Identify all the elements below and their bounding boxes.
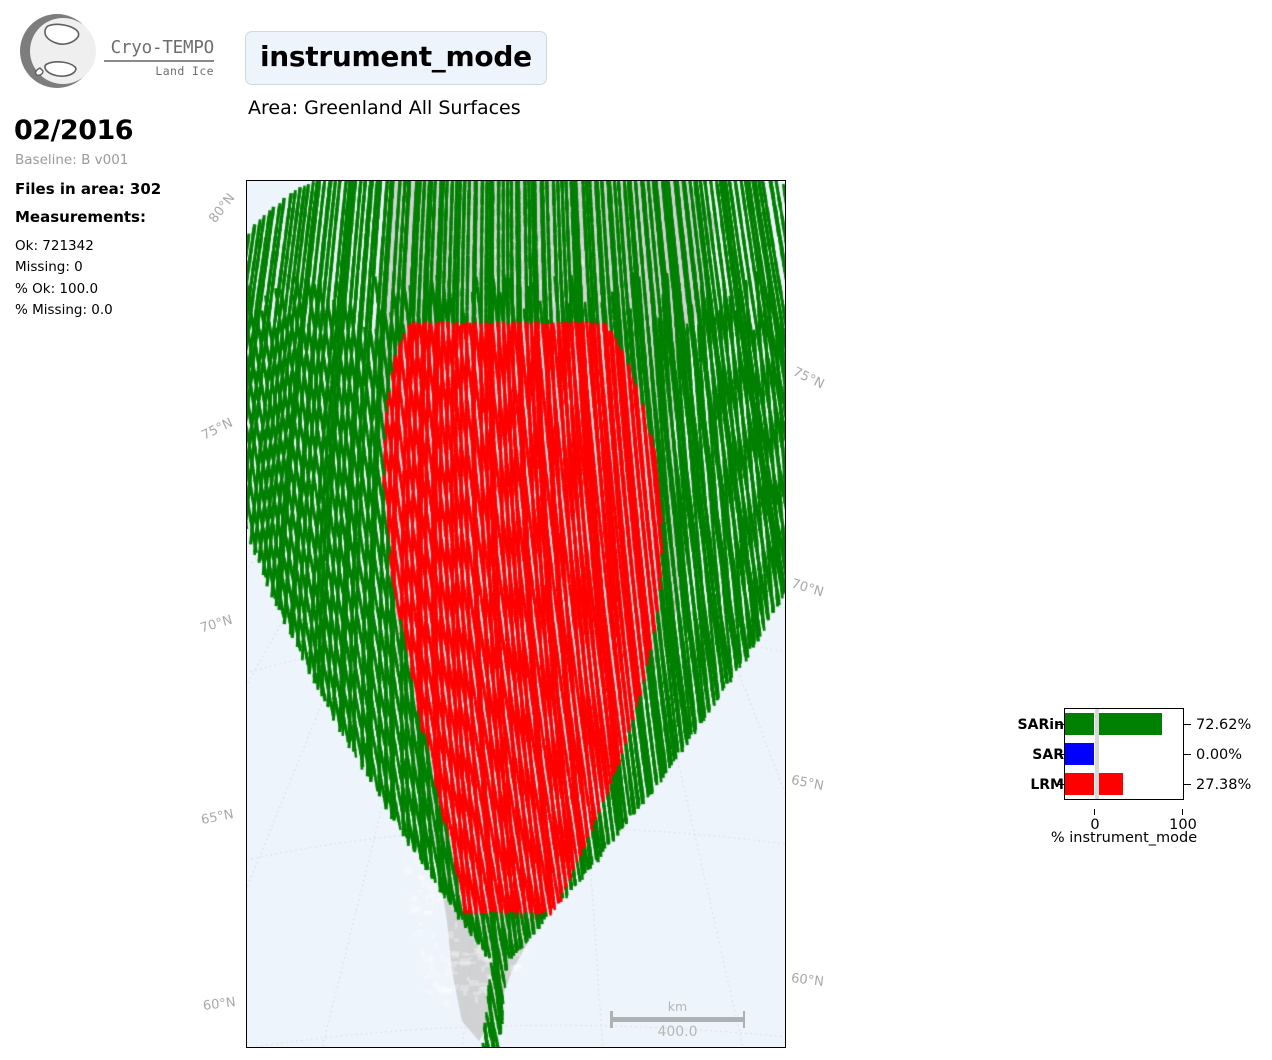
scalebar-unit: km bbox=[610, 1000, 745, 1014]
legend-xtick-100 bbox=[1182, 809, 1183, 815]
legend-value-lrm: 27.38% bbox=[1196, 778, 1251, 792]
logo-subtitle: Land Ice bbox=[102, 64, 214, 78]
measurements-heading: Measurements: bbox=[15, 208, 146, 226]
variable-title-chip: instrument_mode bbox=[245, 31, 547, 85]
files-in-area-label: Files in area: 302 bbox=[15, 180, 161, 198]
stat-ok: Ok: 721342 bbox=[15, 236, 113, 257]
lat-label-right-65N: 65°N bbox=[790, 773, 825, 794]
scalebar-value: 400.0 bbox=[610, 1024, 745, 1040]
lat-label-right-60N: 60°N bbox=[790, 971, 824, 990]
legend-swatch-sar bbox=[1065, 743, 1094, 765]
legend-row-sarin bbox=[1065, 713, 1183, 735]
map-plot bbox=[246, 180, 786, 1048]
stat-pct-missing: % Missing: 0.0 bbox=[15, 300, 113, 321]
stat-missing: Missing: 0 bbox=[15, 257, 113, 278]
legend-plot-area: 0 100 bbox=[1064, 708, 1184, 800]
legend-row-lrm bbox=[1065, 773, 1183, 795]
app-logo: Cryo-TEMPO Land Ice bbox=[14, 10, 214, 92]
area-label: Area: Greenland All Surfaces bbox=[248, 97, 521, 119]
legend-swatch-lrm bbox=[1065, 773, 1094, 795]
instrument-mode-legend-chart: 0 100 SARin SAR LRM 72.62% 0.00% 27.38% … bbox=[1000, 700, 1260, 845]
baseline-label: Baseline: B v001 bbox=[15, 152, 128, 168]
scalebar-rule bbox=[610, 1017, 745, 1022]
legend-ytick-sarin bbox=[1057, 724, 1064, 725]
logo-wordmark: Cryo-TEMPO Land Ice bbox=[102, 38, 214, 78]
legend-xaxis-title: % instrument_mode bbox=[1051, 830, 1197, 846]
legend-value-sar: 0.00% bbox=[1196, 748, 1242, 762]
legend-swatch-sarin bbox=[1065, 713, 1094, 735]
legend-value-sarin: 72.62% bbox=[1196, 718, 1251, 732]
logo-title: Cryo-TEMPO bbox=[102, 38, 214, 58]
sidebar: Cryo-TEMPO Land Ice 02/2016 Baseline: B … bbox=[0, 0, 235, 1060]
cryo-tempo-globe-icon bbox=[18, 12, 96, 90]
lat-label-right-70N: 70°N bbox=[790, 577, 826, 601]
logo-divider bbox=[104, 60, 214, 62]
legend-ytick-right-lrm bbox=[1184, 784, 1191, 785]
legend-ytick-lrm bbox=[1057, 784, 1064, 785]
legend-ytick-sar bbox=[1057, 754, 1064, 755]
measurement-stats-list: Ok: 721342 Missing: 0 % Ok: 100.0 % Miss… bbox=[15, 236, 113, 321]
legend-xtick-0 bbox=[1094, 809, 1095, 815]
date-label: 02/2016 bbox=[14, 115, 133, 146]
legend-bar-lrm bbox=[1099, 773, 1123, 795]
map-scalebar: km 400.0 bbox=[610, 1000, 745, 1040]
legend-row-sar bbox=[1065, 743, 1183, 765]
map-track-canvas bbox=[247, 181, 786, 1048]
legend-bar-sarin bbox=[1099, 713, 1162, 735]
stat-pct-ok: % Ok: 100.0 bbox=[15, 279, 113, 300]
legend-ytick-right-sarin bbox=[1184, 724, 1191, 725]
lat-label-right-75N: 75°N bbox=[790, 365, 826, 393]
legend-ytick-right-sar bbox=[1184, 754, 1191, 755]
